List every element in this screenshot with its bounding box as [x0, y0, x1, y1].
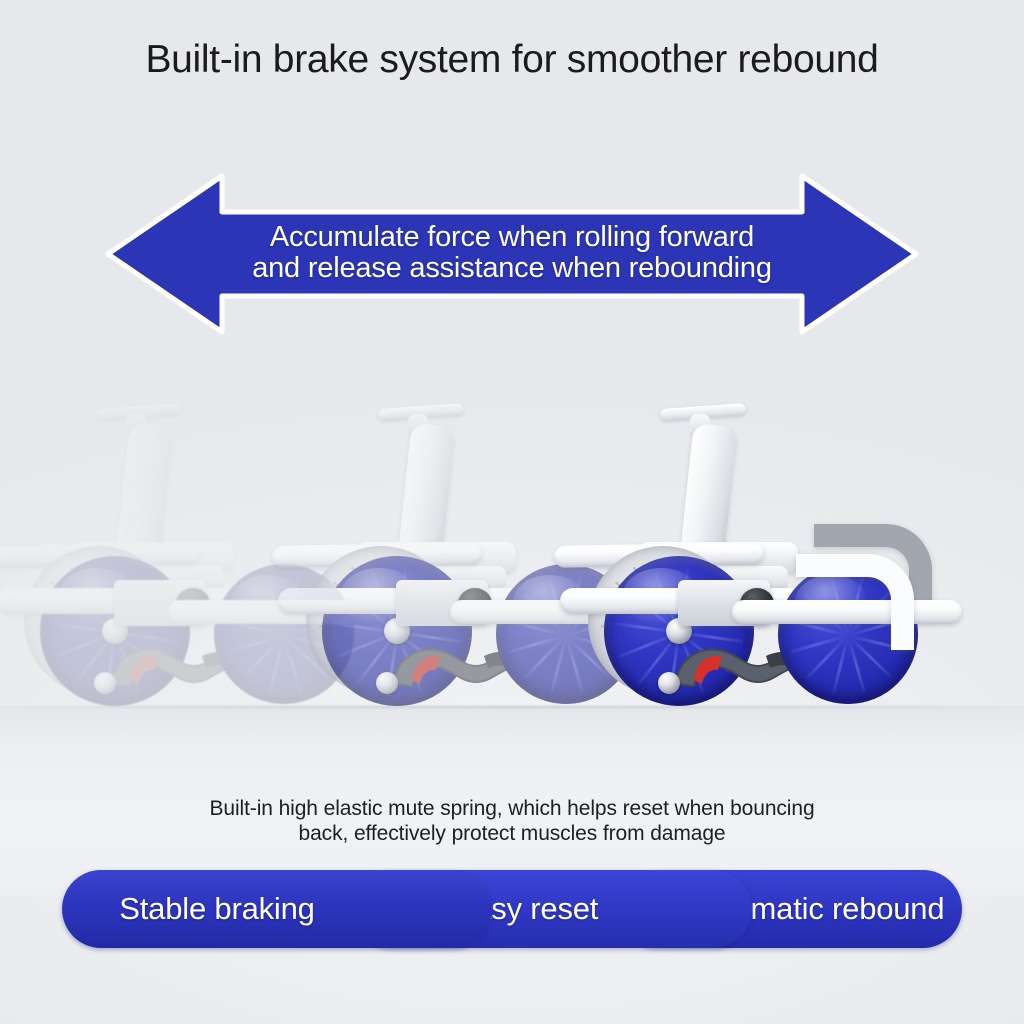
- wheel-hub: [102, 618, 128, 644]
- brake-arm-icon: [360, 600, 590, 710]
- wheel-rear-grey: [306, 546, 456, 696]
- floor-horizon-line: [0, 706, 1024, 708]
- pivot-bolt-left: [376, 672, 398, 694]
- wheel-rim-edge: [40, 556, 190, 706]
- feature-pill-bar: Automatic rebound Easy reset Stable brak…: [62, 870, 962, 948]
- wheel-gloss: [340, 568, 418, 625]
- axle-bar-tube-front: [732, 600, 962, 624]
- pivot-bolt-left: [94, 672, 116, 694]
- wheel-hub: [384, 618, 410, 644]
- axle-bar-tube: [0, 588, 266, 614]
- ab-roller-ghost-far: [18, 404, 378, 734]
- wheel-rear-ribs: [315, 555, 447, 687]
- saddle-lower: [84, 566, 224, 592]
- wheel-tread: [612, 564, 747, 699]
- caption-line2: back, effectively protect muscles from d…: [0, 821, 1024, 846]
- wheel-left-blue: [40, 556, 190, 706]
- caption-line1: Built-in high elastic mute spring, which…: [0, 796, 1024, 821]
- brake-housing: [678, 580, 770, 626]
- wheel-gloss: [513, 575, 586, 628]
- arrow-banner-text: Accumulate force when rolling forward an…: [104, 222, 920, 284]
- brake-mechanism: [642, 600, 872, 710]
- wheel-rim-edge: [604, 556, 754, 706]
- wheel-tread: [221, 571, 347, 697]
- wheel-tread: [785, 571, 911, 697]
- wheel-rim-edge: [496, 564, 636, 704]
- wheel-left-blue: [604, 556, 754, 706]
- handle-arm-rear: [814, 524, 932, 620]
- wheel-rear-ribs: [597, 555, 729, 687]
- feature-pill-label: Stable braking: [62, 892, 492, 926]
- pivot-bolt-right: [250, 670, 272, 692]
- saddle-lower: [366, 566, 506, 592]
- wheel-right-blue: [496, 564, 636, 704]
- wheel-right-blue: [778, 564, 918, 704]
- saddle-upper: [74, 542, 234, 572]
- arrow-banner-line2: and release assistance when rebounding: [104, 253, 920, 284]
- center-cap-nut: [176, 588, 210, 620]
- wheel-hub: [666, 618, 692, 644]
- saddle-upper: [638, 542, 798, 572]
- wheel-tread: [503, 571, 629, 697]
- brake-housing: [114, 580, 206, 626]
- product-infographic: Built-in brake system for smoother rebou…: [0, 0, 1024, 1024]
- wheel-rear-ribs: [33, 555, 165, 687]
- elbow-pad-top: [96, 403, 183, 421]
- axle-bar-tube-front: [450, 600, 680, 624]
- saddle-lower: [648, 566, 788, 592]
- pivot-bolt-right: [814, 670, 836, 692]
- brake-housing: [396, 580, 488, 626]
- arrow-banner-line1: Accumulate force when rolling forward: [104, 222, 920, 253]
- wheel-gloss: [795, 575, 868, 628]
- pivot-bolt-left: [658, 672, 680, 694]
- brake-mechanism: [360, 600, 590, 710]
- wheel-rear-grey: [588, 546, 738, 696]
- elbow-pad-top: [660, 403, 747, 421]
- support-column: [114, 423, 173, 577]
- wheel-tread: [330, 564, 465, 699]
- page-title: Built-in brake system for smoother rebou…: [0, 36, 1024, 84]
- brake-arm-icon: [78, 600, 308, 710]
- center-cap-nut: [458, 588, 492, 620]
- axle-bar-tube-front: [168, 600, 398, 624]
- brake-arm-icon: [642, 600, 872, 710]
- wheel-gloss: [58, 568, 136, 625]
- feature-pill-stable-braking[interactable]: Stable braking: [62, 870, 492, 948]
- axle-bar-tube: [560, 588, 830, 614]
- pivot-bolt-right: [532, 670, 554, 692]
- cross-bar-tube: [272, 542, 482, 568]
- wheel-rear-grey: [24, 546, 174, 696]
- wheel-right-blue: [214, 564, 354, 704]
- handle-arm-front: [796, 554, 914, 650]
- elbow-pad-top: [378, 403, 465, 421]
- elbow-pad-stem: [126, 414, 146, 440]
- cross-bar-tube: [554, 542, 764, 568]
- elbow-pad-stem: [408, 414, 428, 440]
- double-arrow-banner: Accumulate force when rolling forward an…: [104, 166, 920, 342]
- ab-roller-ghost-mid: [300, 404, 660, 734]
- feature-caption: Built-in high elastic mute spring, which…: [0, 796, 1024, 846]
- brake-mechanism: [78, 600, 308, 710]
- cross-bar-tube: [0, 542, 200, 568]
- ab-roller-solid: [582, 404, 942, 734]
- axle-bar-tube: [278, 588, 548, 614]
- wheel-rim-edge: [778, 564, 918, 704]
- support-column: [678, 423, 737, 577]
- wheel-rim-edge: [322, 556, 472, 706]
- center-cap-nut: [740, 588, 774, 620]
- wheel-gloss: [231, 575, 304, 628]
- wheel-tread: [48, 564, 183, 699]
- wheel-gloss: [622, 568, 700, 625]
- elbow-pad-stem: [690, 414, 710, 440]
- wheel-left-blue: [322, 556, 472, 706]
- wheel-rim-edge: [214, 564, 354, 704]
- saddle-upper: [356, 542, 516, 572]
- support-column: [396, 423, 455, 577]
